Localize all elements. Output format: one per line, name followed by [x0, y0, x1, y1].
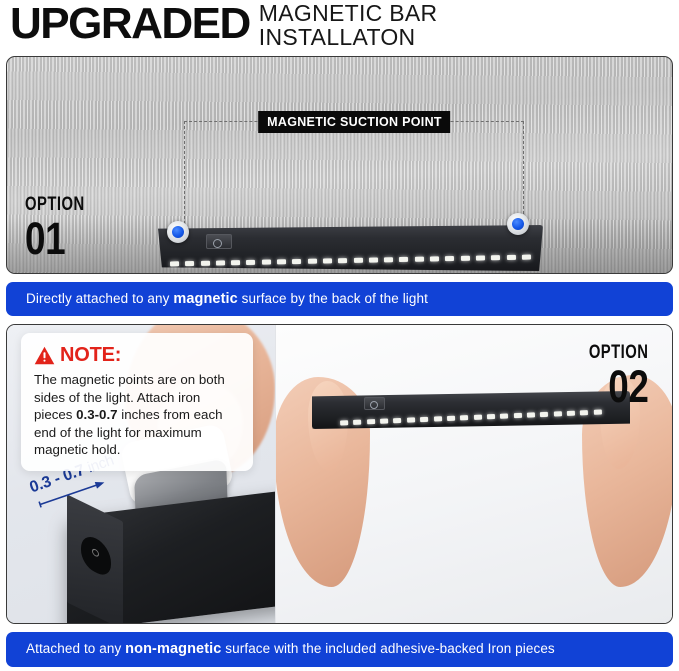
magnet-point-right-icon [507, 213, 529, 235]
hands-holding-bar-photo: OPTION 02 [275, 325, 672, 623]
note-title: NOTE: [60, 344, 121, 367]
note-header: NOTE: [34, 344, 240, 367]
power-switch-icon [206, 234, 232, 249]
page-header: UPGRADED MAGNETIC BAR INSTALLATON [0, 0, 679, 56]
page-title: UPGRADED [10, 0, 250, 48]
mounting-hole-icon [81, 531, 111, 580]
caption-one-bold: magnetic [173, 291, 237, 307]
option-one-caption: Directly attached to any magnetic surfac… [6, 282, 673, 316]
option-one-number: 01 [25, 216, 88, 261]
warning-triangle-icon [34, 346, 55, 365]
note-body: The magnetic points are on both sides of… [34, 371, 240, 459]
option-two-number: 02 [585, 364, 648, 409]
caption-one-suffix: surface by the back of the light [238, 291, 428, 306]
suction-point-callout: MAGNETIC SUCTION POINT [184, 121, 524, 229]
caption-two-bold: non-magnetic [125, 641, 221, 657]
subtitle-line-2: INSTALLATON [259, 25, 438, 49]
option-two-word: OPTION [588, 343, 648, 362]
magnetic-suction-point-label: MAGNETIC SUCTION POINT [258, 111, 450, 133]
caption-one-prefix: Directly attached to any [26, 291, 173, 306]
note-card: NOTE: The magnetic points are on both si… [21, 333, 253, 471]
option-two-panel: 0.3 - 0.7 inch NOTE: The magnetic points… [6, 324, 673, 624]
power-switch-icon [364, 397, 385, 410]
iron-piece-photo: 0.3 - 0.7 inch NOTE: The magnetic points… [7, 325, 275, 623]
caption-two-prefix: Attached to any [26, 641, 125, 656]
option-two-badge: OPTION 02 [572, 343, 648, 409]
subtitle-line-1: MAGNETIC BAR [259, 1, 438, 25]
caption-two-suffix: surface with the included adhesive-backe… [221, 641, 554, 656]
option-one-word: OPTION [25, 195, 85, 214]
led-light-bar-mounted [158, 225, 543, 271]
page-subtitle: MAGNETIC BAR INSTALLATON [259, 1, 438, 49]
note-body-bold: 0.3-0.7 [76, 407, 117, 422]
option-one-badge: OPTION 01 [25, 195, 101, 261]
option-one-panel: MAGNETIC SUCTION POINT OPTION 01 [6, 56, 673, 274]
magnet-point-left-icon [167, 221, 189, 243]
option-two-caption: Attached to any non-magnetic surface wit… [6, 632, 673, 667]
